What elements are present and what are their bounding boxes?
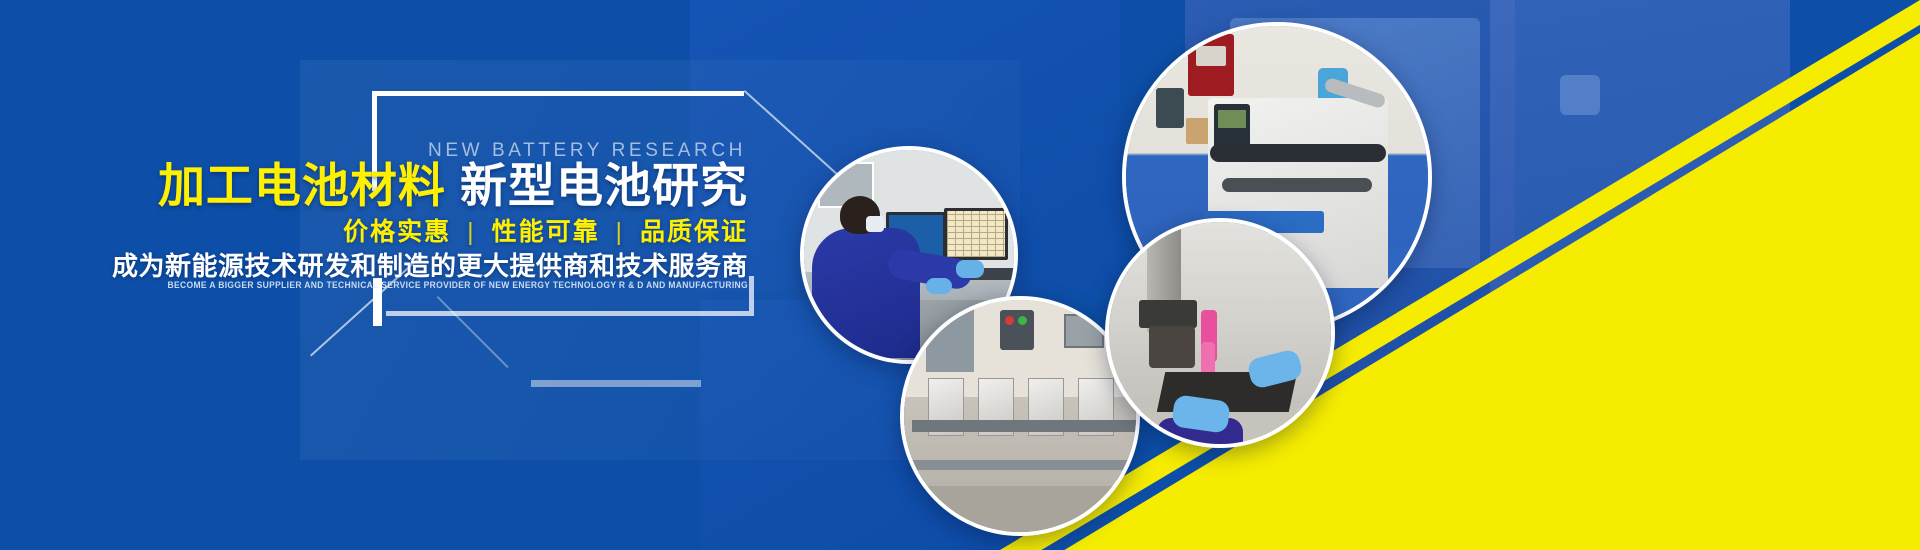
hero-banner: NEW BATTERY RESEARCH 加工电池材料 新型电池研究 价格实惠 …	[0, 0, 1920, 550]
photo-collage	[0, 0, 1920, 550]
press-gloves-circle	[1105, 218, 1335, 448]
production-line-circle	[900, 296, 1140, 536]
